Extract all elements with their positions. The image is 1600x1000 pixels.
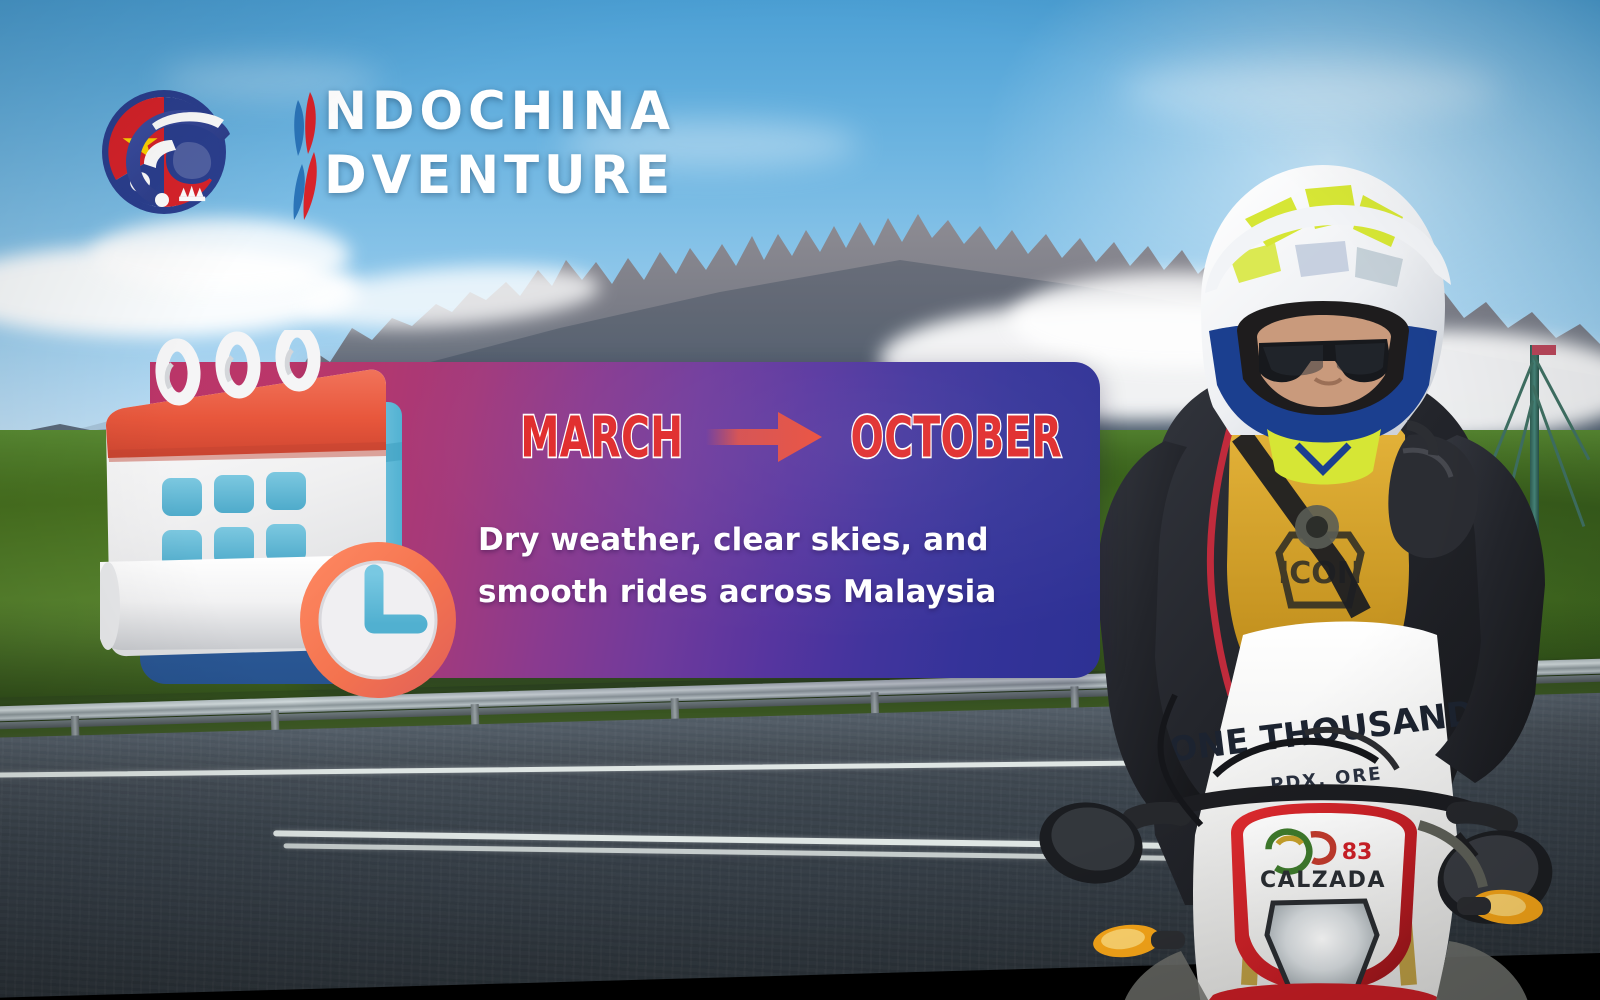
brand-wordmark: NDOCHINA DVENTURE <box>324 80 686 208</box>
banner-stage: ICON ONE THOUSAND PDX, ORE <box>0 0 1600 1000</box>
clock-icon <box>300 542 456 698</box>
brand-line-2: DVENTURE <box>324 144 675 208</box>
cloud <box>1120 60 1500 120</box>
cloud <box>90 218 350 292</box>
plate-text: CALZADA <box>1260 868 1386 893</box>
calendar-rings <box>161 330 316 400</box>
month-range: MARCH OCTOBER <box>500 406 1040 468</box>
plate-number: 83 <box>1342 840 1373 865</box>
brand-line-1: NDOCHINA <box>324 80 675 144</box>
arrow-right-icon <box>704 410 824 464</box>
motorcycle-helmet-emblem-icon <box>96 84 232 220</box>
tagline: Dry weather, clear skies, and smooth rid… <box>478 514 1068 618</box>
calendar-clock-icon <box>100 330 470 720</box>
brand-logo[interactable]: NDOCHINA DVENTURE <box>96 78 616 228</box>
turn-indicator-left <box>1092 922 1185 961</box>
tagline-line-2: smooth rides across Malaysia <box>478 566 1068 618</box>
brand-initial-a-icon <box>288 150 328 222</box>
month-end-label: OCTOBER <box>850 405 1062 470</box>
month-start-label: MARCH <box>520 405 683 470</box>
tagline-line-1: Dry weather, clear skies, and <box>478 514 1068 566</box>
